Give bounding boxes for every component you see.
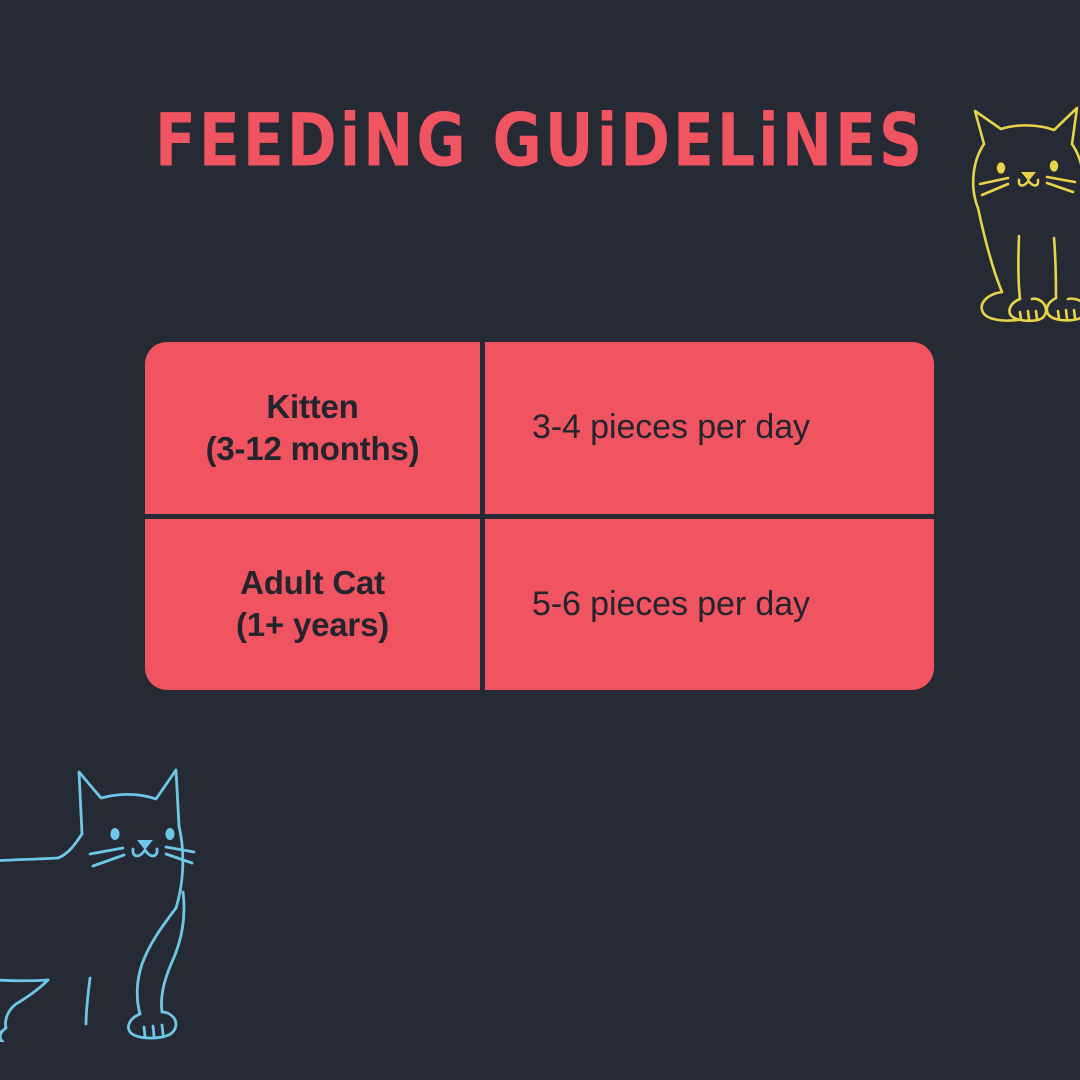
page-title-segment-4: i <box>597 97 621 183</box>
age-group-range: (1+ years) <box>236 604 389 646</box>
page-title-segment-1: FEED <box>155 97 340 183</box>
page-title-segment-3: NG GU <box>363 97 596 183</box>
walking-cat-icon <box>0 742 238 1042</box>
age-group-label: Kitten (3-12 months) <box>206 386 420 470</box>
table-cell-age-group: Kitten (3-12 months) <box>145 342 485 514</box>
feeding-guidelines-table: Kitten (3-12 months) 3-4 pieces per day … <box>145 342 934 690</box>
page-title-segment-7: NES <box>782 97 925 183</box>
page-title: FEEDiNG GUiDELiNES <box>16 104 1064 177</box>
age-group-name: Kitten <box>206 386 420 428</box>
page-title-segment-5: DEL <box>620 97 758 183</box>
table-cell-age-group: Adult Cat (1+ years) <box>145 519 485 691</box>
age-group-name: Adult Cat <box>236 562 389 604</box>
table-row: Adult Cat (1+ years) 5-6 pieces per day <box>145 519 934 691</box>
portion-amount: 3-4 pieces per day <box>532 408 810 447</box>
age-group-label: Adult Cat (1+ years) <box>236 562 389 646</box>
table-row: Kitten (3-12 months) 3-4 pieces per day <box>145 342 934 519</box>
page-title-segment-6: i <box>758 97 782 183</box>
table-cell-portion: 5-6 pieces per day <box>485 519 934 691</box>
poster-canvas: FEEDiNG GUiDELiNES Kitten (3-12 months) … <box>0 0 1080 1080</box>
page-title-segment-2: i <box>340 97 364 183</box>
age-group-range: (3-12 months) <box>206 428 420 470</box>
table-cell-portion: 3-4 pieces per day <box>485 342 934 514</box>
portion-amount: 5-6 pieces per day <box>532 585 810 624</box>
